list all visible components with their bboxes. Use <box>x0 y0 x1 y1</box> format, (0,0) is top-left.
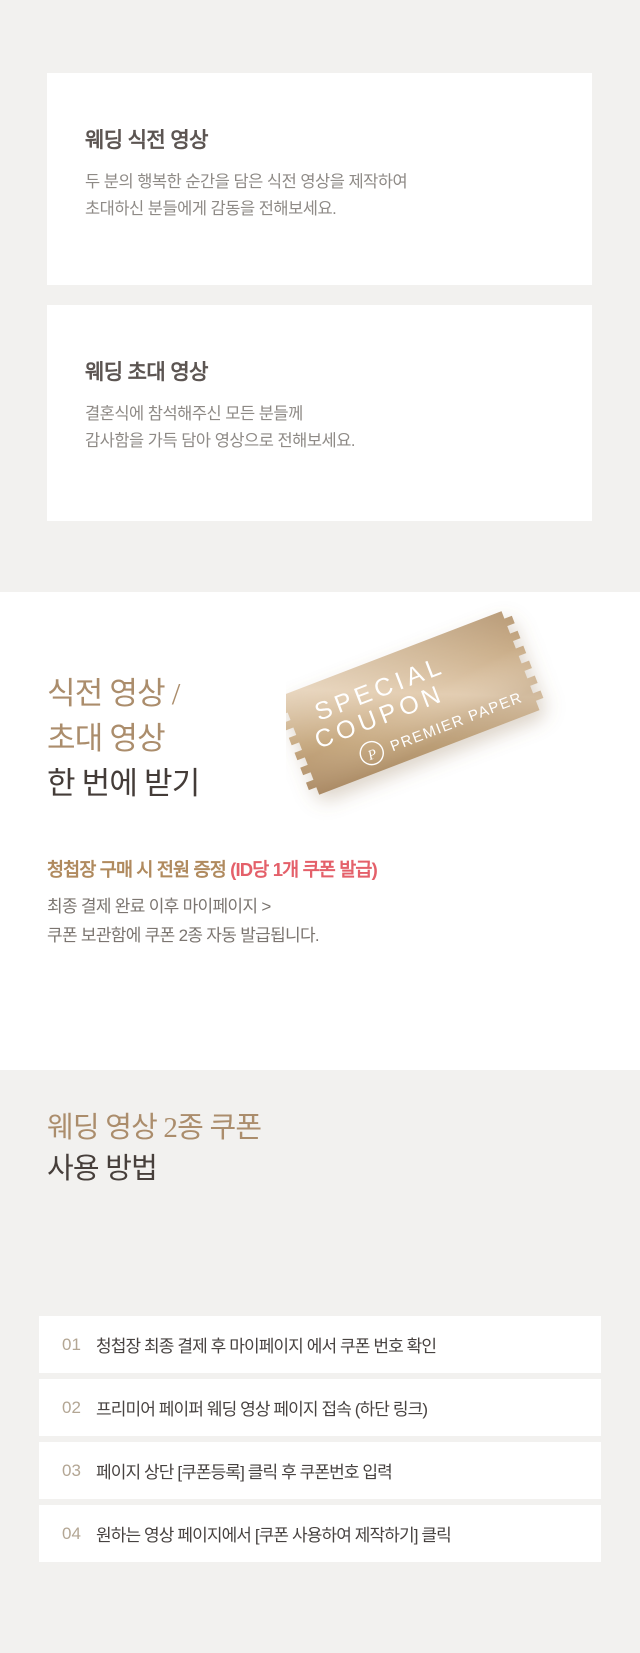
promo-highlight-text: 청첩장 구매 시 전원 증정 (ID당 1개 쿠폰 발급) <box>47 856 377 882</box>
card-description-line: 감사함을 가득 담아 영상으로 전해보세요. <box>85 432 355 450</box>
how-to-use-section: 웨딩 영상 2종 쿠폰 사용 방법 01 청첩장 최종 결제 후 마이페이지 에… <box>0 1070 640 1653</box>
how-to-use-heading: 웨딩 영상 2종 쿠폰 사용 방법 <box>47 1108 261 1190</box>
promo-highlight-red: (ID당 1개 쿠폰 발급) <box>230 859 377 880</box>
ticket-brand-name: PREMIER PAPER <box>388 689 525 755</box>
video-info-section: 웨딩 식전 영상 두 분의 행복한 순간을 담은 식전 영상을 제작하여 초대하… <box>0 0 640 592</box>
step-number: 01 <box>62 1335 96 1355</box>
list-item: 03 페이지 상단 [쿠폰등록] 클릭 후 쿠폰번호 입력 <box>39 1442 601 1499</box>
special-coupon-section: 식전 영상 / 초대 영상 한 번에 받기 <box>0 592 640 1070</box>
step-number: 04 <box>62 1524 96 1544</box>
step-text: 프리미어 페이퍼 웨딩 영상 페이지 접속 (하단 링크) <box>96 1395 427 1420</box>
ticket-title-line-2: COUPON <box>311 679 449 754</box>
info-card-invitation-video: 웨딩 초대 영상 결혼식에 참석해주신 모든 분들께 감사함을 가득 담아 영상… <box>47 305 592 521</box>
heading-line-3: 한 번에 받기 <box>47 762 200 807</box>
ticket-title-line-1: SPECIAL <box>311 651 449 726</box>
step-text: 원하는 영상 페이지에서 [쿠폰 사용하여 제작하기] 클릭 <box>96 1521 451 1546</box>
card-description: 결혼식에 참석해주신 모든 분들께 감사함을 가득 담아 영상으로 전해보세요. <box>85 401 554 454</box>
promo-subtext-line-1: 최종 결제 완료 이후 마이페이지 > <box>47 892 319 921</box>
card-description-line: 결혼식에 참석해주신 모든 분들께 <box>85 405 303 423</box>
logo-letter: P <box>365 747 380 765</box>
ticket-brand-logo: P <box>357 738 387 768</box>
special-coupon-ticket-graphic: SPECIAL COUPON P PREMIER PAPER <box>286 592 606 864</box>
coupon-ticket-svg: SPECIAL COUPON P PREMIER PAPER <box>286 592 606 864</box>
step-text: 페이지 상단 [쿠폰등록] 클릭 후 쿠폰번호 입력 <box>96 1458 392 1483</box>
ticket-shading <box>286 608 547 797</box>
list-item: 02 프리미어 페이퍼 웨딩 영상 페이지 접속 (하단 링크) <box>39 1379 601 1436</box>
list-item: 01 청첩장 최종 결제 후 마이페이지 에서 쿠폰 번호 확인 <box>39 1316 601 1373</box>
step-number: 03 <box>62 1461 96 1481</box>
promo-page: 웨딩 식전 영상 두 분의 행복한 순간을 담은 식전 영상을 제작하여 초대하… <box>0 0 640 1653</box>
promo-highlight-brown: 청첩장 구매 시 전원 증정 <box>47 859 230 880</box>
ticket-body <box>286 608 547 797</box>
step-text: 청첩장 최종 결제 후 마이페이지 에서 쿠폰 번호 확인 <box>96 1332 436 1357</box>
card-description: 두 분의 행복한 순간을 담은 식전 영상을 제작하여 초대하신 분들에게 감동… <box>85 169 554 222</box>
how-to-use-steps-list: 01 청첩장 최종 결제 후 마이페이지 에서 쿠폰 번호 확인 02 프리미어… <box>39 1316 601 1568</box>
card-title: 웨딩 초대 영상 <box>85 360 554 385</box>
heading-line-2: 사용 방법 <box>47 1149 261 1190</box>
card-description-line: 두 분의 행복한 순간을 담은 식전 영상을 제작하여 <box>85 173 407 191</box>
list-item: 04 원하는 영상 페이지에서 [쿠폰 사용하여 제작하기] 클릭 <box>39 1505 601 1562</box>
logo-circle-icon <box>357 738 387 768</box>
heading-line-1: 웨딩 영상 2종 쿠폰 <box>47 1108 261 1149</box>
heading-line-2: 초대 영상 <box>47 717 200 762</box>
heading-line-1: 식전 영상 / <box>47 672 200 717</box>
card-title: 웨딩 식전 영상 <box>85 128 554 153</box>
card-description-line: 초대하신 분들에게 감동을 전해보세요. <box>85 200 336 218</box>
step-number: 02 <box>62 1398 96 1418</box>
info-card-pre-ceremony-video: 웨딩 식전 영상 두 분의 행복한 순간을 담은 식전 영상을 제작하여 초대하… <box>47 73 592 285</box>
promo-subtext-line-2: 쿠폰 보관함에 쿠폰 2종 자동 발급됩니다. <box>47 921 319 950</box>
coupon-section-heading: 식전 영상 / 초대 영상 한 번에 받기 <box>47 672 200 807</box>
promo-subtext: 최종 결제 완료 이후 마이페이지 > 쿠폰 보관함에 쿠폰 2종 자동 발급됩… <box>47 892 319 950</box>
